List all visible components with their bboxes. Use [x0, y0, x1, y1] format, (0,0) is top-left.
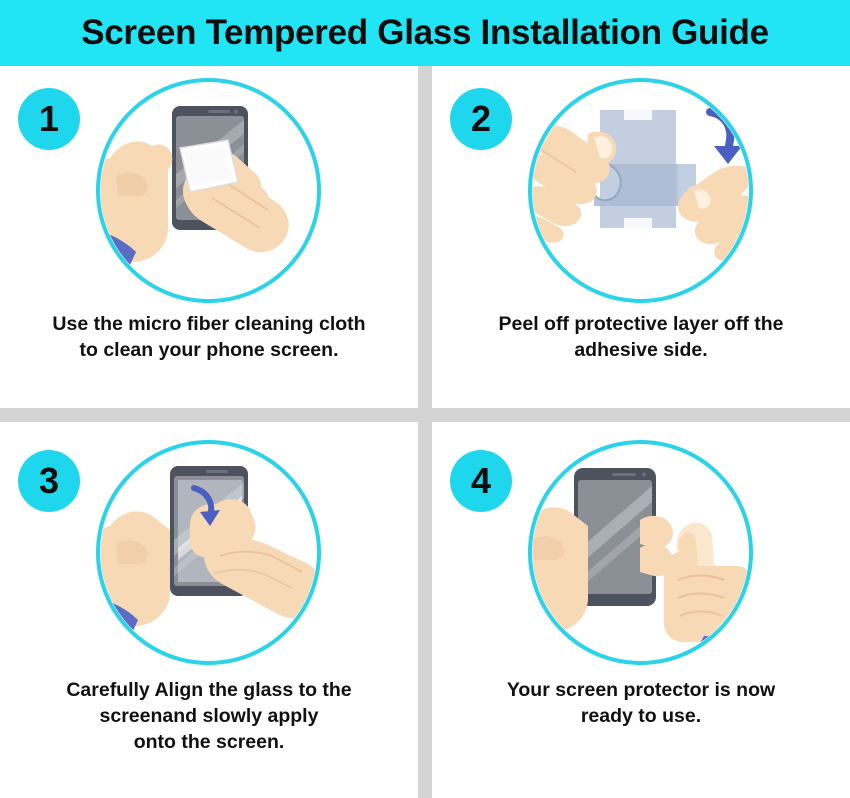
step-caption-2: Peel off protective layer off the adhesi… — [446, 312, 836, 364]
illustration-2-two-hands-peeling-protective-film — [528, 78, 753, 303]
step-number-label: 1 — [39, 101, 59, 137]
header-bar: Screen Tempered Glass Installation Guide — [0, 0, 850, 66]
step-caption-3: Carefully Align the glass to the screena… — [14, 678, 404, 756]
step-panel-1: 1 — [0, 66, 418, 408]
caption-line: ready to use. — [446, 704, 836, 730]
thumbs-up-phone-icon — [528, 440, 753, 665]
caption-line: Your screen protector is now — [446, 678, 836, 704]
step-badge-4: 4 — [450, 450, 512, 512]
peel-film-icon — [528, 78, 753, 303]
cleaning-phone-icon — [96, 78, 321, 303]
align-glass-icon — [96, 440, 321, 665]
caption-line: to clean your phone screen. — [14, 338, 404, 364]
illustration-4-hand-holding-phone-with-thumbs-up — [528, 440, 753, 665]
step-panel-4: 4 — [432, 422, 850, 798]
caption-line: Use the micro fiber cleaning cloth — [14, 312, 404, 338]
illustration-3-hand-aligning-glass-onto-phone — [96, 440, 321, 665]
step-caption-4: Your screen protector is now ready to us… — [446, 678, 836, 730]
step-panel-2: 2 — [432, 66, 850, 408]
vertical-divider — [418, 66, 432, 798]
step-number-label: 2 — [471, 101, 491, 137]
page-title: Screen Tempered Glass Installation Guide — [81, 13, 769, 53]
caption-line: Peel off protective layer off the — [446, 312, 836, 338]
caption-line: onto the screen. — [14, 730, 404, 756]
step-number-label: 4 — [471, 463, 491, 499]
caption-line: screenand slowly apply — [14, 704, 404, 730]
step-badge-2: 2 — [450, 88, 512, 150]
installation-guide-infographic: Screen Tempered Glass Installation Guide… — [0, 0, 850, 798]
step-badge-3: 3 — [18, 450, 80, 512]
caption-line: adhesive side. — [446, 338, 836, 364]
step-badge-1: 1 — [18, 88, 80, 150]
step-panel-3: 3 — [0, 422, 418, 798]
step-caption-1: Use the micro fiber cleaning cloth to cl… — [14, 312, 404, 364]
illustration-1-hand-cleaning-phone-with-cloth — [96, 78, 321, 303]
step-number-label: 3 — [39, 463, 59, 499]
horizontal-divider — [0, 408, 850, 422]
steps-grid: 1 — [0, 66, 850, 798]
caption-line: Carefully Align the glass to the — [14, 678, 404, 704]
